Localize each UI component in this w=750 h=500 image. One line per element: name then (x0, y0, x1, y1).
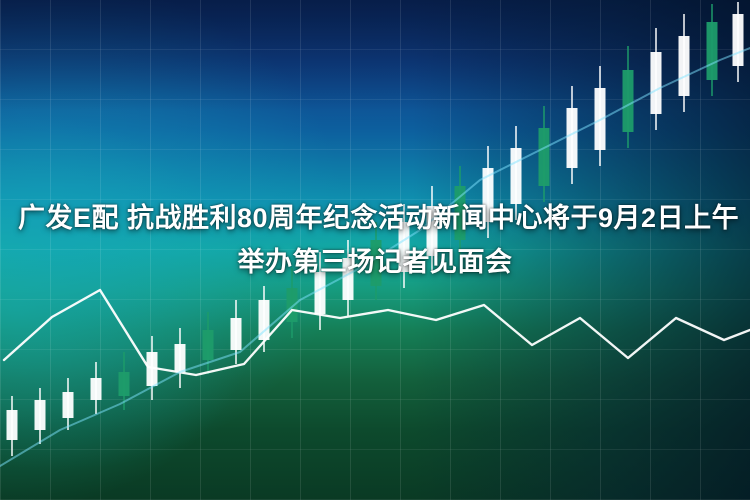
candle-body (287, 288, 298, 322)
candle-body (567, 108, 578, 168)
candle-body (733, 14, 744, 66)
candle-body (651, 52, 662, 114)
candle-body (539, 128, 550, 186)
image-canvas: 广发E配 抗战胜利80周年纪念活动新闻中心将于9月2日上午 举办第三场记者见面会 (0, 0, 750, 500)
candle-body (35, 400, 46, 430)
headline-line-1: 广发E配 抗战胜利80周年纪念活动新闻中心将于9月2日上午 (18, 196, 732, 240)
white-zigzag-line (4, 290, 750, 375)
candle-body (679, 36, 690, 96)
candle-body (203, 330, 214, 360)
candle-body (63, 392, 74, 418)
candle-body (707, 22, 718, 80)
headline-line-2: 举办第三场记者见面会 (18, 240, 732, 284)
candle-body (91, 378, 102, 400)
candle-body (231, 318, 242, 350)
candle-body (623, 70, 634, 132)
candle-body (7, 410, 18, 440)
candle-body (119, 372, 130, 396)
candle-body (175, 344, 186, 372)
headline-overlay: 广发E配 抗战胜利80周年纪念活动新闻中心将于9月2日上午 举办第三场记者见面会 (0, 196, 750, 284)
